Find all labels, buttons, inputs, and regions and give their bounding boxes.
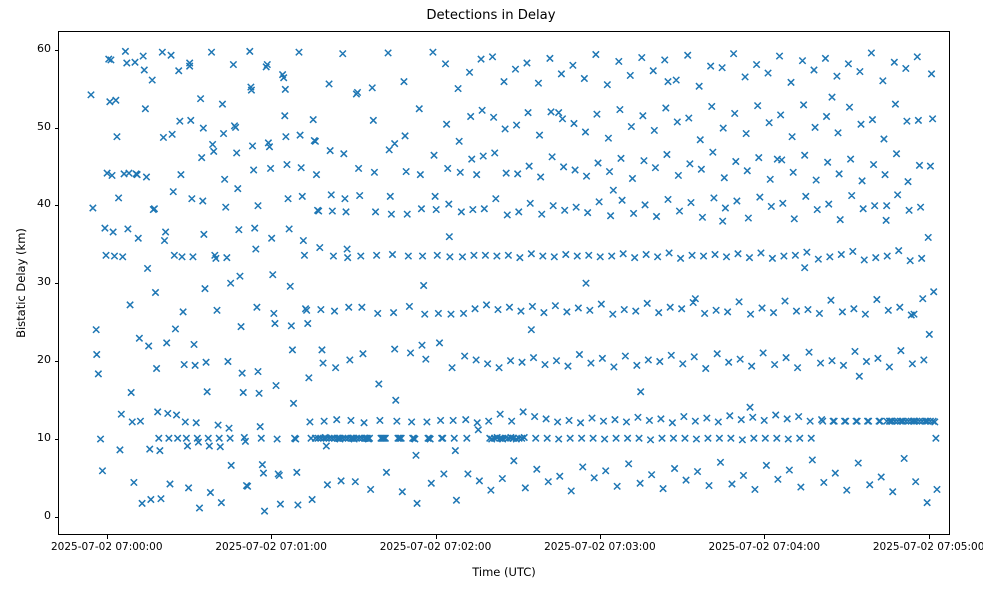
y-tick: 50	[0, 128, 58, 129]
x-tick-label: 2025-07-02 07:04:00	[708, 541, 820, 553]
y-tick-mark	[55, 205, 59, 206]
scatter-points-layer	[59, 32, 949, 534]
x-tick-mark	[929, 535, 930, 539]
x-tick-label: 2025-07-02 07:05:00	[873, 541, 983, 553]
y-tick: 10	[0, 439, 58, 440]
y-tick-mark	[55, 439, 59, 440]
x-axis-label: Time (UTC)	[58, 565, 950, 579]
x-tick-mark	[107, 535, 108, 539]
y-tick-mark	[55, 128, 59, 129]
scatter-marker-set	[88, 48, 940, 514]
y-tick: 20	[0, 361, 58, 362]
x-tick: 2025-07-02 07:03:00	[600, 535, 601, 536]
y-tick: 0	[0, 517, 58, 518]
x-tick: 2025-07-02 07:02:00	[436, 535, 437, 536]
x-tick-mark	[600, 535, 601, 539]
y-tick-label: 60	[37, 42, 51, 55]
y-tick-label: 0	[44, 509, 51, 522]
y-tick-label: 50	[37, 120, 51, 133]
x-tick: 2025-07-02 07:00:00	[107, 535, 108, 536]
x-tick-label: 2025-07-02 07:00:00	[51, 541, 163, 553]
y-axis-label: Bistatic Delay (km)	[14, 31, 28, 535]
x-tick-mark	[271, 535, 272, 539]
x-tick-mark	[764, 535, 765, 539]
x-tick-label: 2025-07-02 07:01:00	[215, 541, 327, 553]
y-tick: 30	[0, 283, 58, 284]
y-tick-label: 30	[37, 275, 51, 288]
y-tick-mark	[55, 361, 59, 362]
x-tick-label: 2025-07-02 07:02:00	[380, 541, 492, 553]
x-tick: 2025-07-02 07:05:00	[929, 535, 930, 536]
chart-title: Detections in Delay	[0, 8, 983, 23]
y-tick-mark	[55, 50, 59, 51]
x-tick: 2025-07-02 07:01:00	[271, 535, 272, 536]
chart-title-text: Detections in Delay	[426, 8, 555, 23]
x-tick-label: 2025-07-02 07:03:00	[544, 541, 656, 553]
y-tick-label: 20	[37, 353, 51, 366]
y-tick: 60	[0, 50, 58, 51]
x-tick-mark	[436, 535, 437, 539]
y-tick-label: 40	[37, 197, 51, 210]
figure-canvas: Detections in Delay 0102030405060 2025-0…	[0, 0, 983, 590]
plot-axes	[58, 31, 950, 535]
y-tick-mark	[55, 517, 59, 518]
y-tick-mark	[55, 283, 59, 284]
y-tick-label: 10	[37, 431, 51, 444]
x-tick: 2025-07-02 07:04:00	[764, 535, 765, 536]
y-tick: 40	[0, 205, 58, 206]
